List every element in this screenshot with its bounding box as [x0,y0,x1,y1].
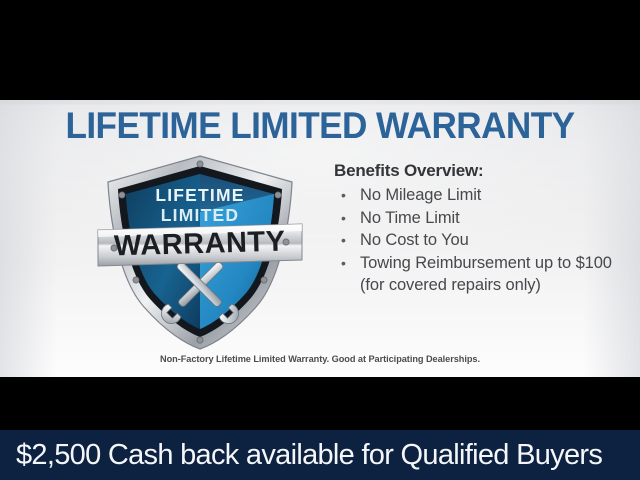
slide-screen: LIFETIME LIMITED WARRANTY [0,0,640,480]
bullet-icon: • [341,252,346,275]
benefits-list: • No Mileage Limit • No Time Limit • No … [334,184,614,297]
page-title: LIFETIME LIMITED WARRANTY [16,105,624,147]
list-item-label: Towing Reimbursement up to $100 (for cov… [360,254,612,295]
list-item: • Towing Reimbursement up to $100 (for c… [334,252,614,297]
list-item: • No Mileage Limit [334,184,614,207]
disclaimer-text: Non-Factory Lifetime Limited Warranty. G… [0,354,640,364]
ribbon-label: WARRANTY [114,226,286,263]
benefits-title: Benefits Overview: [334,161,614,181]
list-item-label: No Cost to You [360,231,469,249]
warranty-shield-badge: LIFETIME LIMITED WARRANTY [96,152,304,352]
list-item: • No Cost to You [334,229,614,252]
bullet-icon: • [341,229,346,252]
list-item: • No Time Limit [334,207,614,230]
offer-banner-text: $2,500 Cash back available for Qualified… [0,440,602,470]
benefits-overview: Benefits Overview: • No Mileage Limit • … [334,161,614,297]
bullet-icon: • [341,207,346,230]
list-item-label: No Mileage Limit [360,186,481,204]
offer-banner: $2,500 Cash back available for Qualified… [0,430,640,480]
shield-line1: LIFETIME [155,185,244,205]
list-item-label: No Time Limit [360,209,460,227]
shield-line2: LIMITED [161,205,239,225]
bullet-icon: • [341,184,346,207]
